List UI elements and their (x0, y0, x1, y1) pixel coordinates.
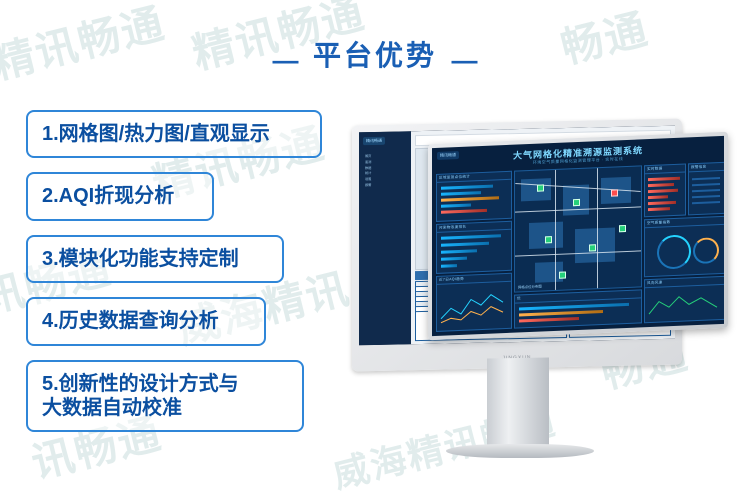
page-title: — 平台优势 — (0, 34, 750, 76)
aqi-trend-chart (437, 286, 511, 329)
wind-chart (645, 289, 724, 320)
panel-header: 污染物浓度排名 (437, 222, 511, 233)
sidebar-item-alarm[interactable]: 报警 (365, 183, 371, 189)
list-item: 2.AQI折现分析 (26, 172, 214, 220)
aqi-gauge-secondary (693, 237, 719, 264)
realtime-bar (648, 195, 668, 198)
alarm-row (692, 195, 720, 198)
advantage-list: 1.网格图/热力图/直观显示 2.AQI折现分析 3.模块化功能支持定制 4.历… (26, 110, 336, 446)
dashboard-screen: 精讯畅通 大气网格化精准溯源监测系统 环境空气质量网格化监测管理平台 · 实时在… (432, 136, 724, 336)
alarm-row (692, 177, 720, 180)
alarm-row (692, 183, 720, 186)
realtime-bar (648, 177, 680, 181)
map-marker[interactable] (573, 199, 580, 206)
sidebar-item-monitor[interactable]: 监测 (365, 160, 371, 166)
monitor-large-bezel: 精讯畅通 大气网格化精准溯源监测系统 环境空气质量网格化监测管理平台 · 实时在… (428, 132, 728, 341)
app-sidebar: 精讯畅通 首页 监测 数据 统计 设置 报警 (359, 131, 411, 345)
list-item: 1.网格图/热力图/直观显示 (26, 110, 322, 158)
title-dash-left: — (263, 45, 309, 76)
legend-bar (519, 317, 579, 322)
stat-bar (441, 185, 493, 190)
realtime-bar (648, 201, 676, 205)
panel-header: 近7日AQI趋势 (437, 274, 511, 285)
list-item: 4.历史数据查询分析 (26, 297, 266, 345)
panel-header: 优 (515, 290, 641, 303)
stat-bar (441, 203, 471, 207)
legend-bar (519, 303, 629, 310)
alarm-row (692, 189, 720, 192)
map-marker[interactable] (589, 244, 596, 251)
map-marker[interactable] (545, 236, 552, 243)
panel-header: 风向风速 (645, 277, 724, 288)
poster-canvas: 精讯畅通 精讯畅通 畅通 精讯畅通 讯畅通 讯畅通 威海精讯 畅通 讯畅通 威海… (0, 0, 750, 492)
title-text: 平台优势 (313, 34, 437, 74)
map-marker[interactable] (559, 272, 566, 279)
realtime-bar (648, 183, 674, 187)
map-label: 网格点位分布图 (518, 284, 542, 290)
map-block (521, 178, 551, 201)
app-brand: 精讯畅通 (363, 137, 385, 145)
monitor-stand-neck (487, 357, 549, 450)
map-road (597, 168, 598, 288)
panel-realtime[interactable]: 实时数据 (644, 163, 686, 217)
monitor-stand-base (446, 444, 594, 458)
monitor-large: 精讯畅通 大气网格化精准溯源监测系统 环境空气质量网格化监测管理平台 · 实时在… (428, 138, 728, 334)
rank-bar (441, 264, 457, 267)
aqi-gauge (657, 234, 691, 269)
map-marker-alert[interactable] (611, 189, 618, 196)
list-item: 3.模块化功能支持定制 (26, 235, 284, 283)
panel-header: 空气质量指数 (645, 217, 724, 228)
map-marker[interactable] (619, 225, 626, 232)
panel-header: 实时数据 (645, 165, 685, 175)
panel-map-legend[interactable]: 优 (514, 289, 642, 328)
map-marker[interactable] (537, 184, 544, 191)
panel-wind[interactable]: 风向风速 (644, 276, 724, 323)
rank-bar (441, 249, 477, 253)
rank-bar (441, 242, 489, 247)
panel-concentration-rank[interactable]: 污染物浓度排名 (436, 221, 512, 274)
stat-bar (441, 196, 499, 201)
realtime-bar (648, 207, 670, 210)
panel-header: 报警信息 (689, 163, 724, 173)
panel-point-stats[interactable]: 区域监测点位统计 (436, 171, 512, 222)
app-menu: 首页 监测 数据 统计 设置 报警 (365, 154, 371, 189)
list-item: 5.创新性的设计方式与 大数据自动校准 (26, 360, 304, 433)
grid-map[interactable]: 网格点位分布图 (514, 165, 642, 292)
rank-bar (441, 234, 501, 239)
stat-bar (441, 209, 487, 213)
panel-aqi-gauge[interactable]: 空气质量指数 (644, 216, 724, 277)
alarm-row (692, 201, 720, 204)
stat-bar (441, 191, 481, 195)
realtime-bar (648, 189, 678, 193)
panel-aqi-trend[interactable]: 近7日AQI趋势 (436, 273, 512, 332)
panel-header: 区域监测点位统计 (437, 172, 511, 183)
rank-bar (441, 257, 467, 261)
title-dash-right: — (441, 45, 487, 76)
map-road (555, 170, 556, 290)
panel-alarm[interactable]: 报警信息 (688, 162, 724, 216)
legend-bar (519, 310, 603, 316)
